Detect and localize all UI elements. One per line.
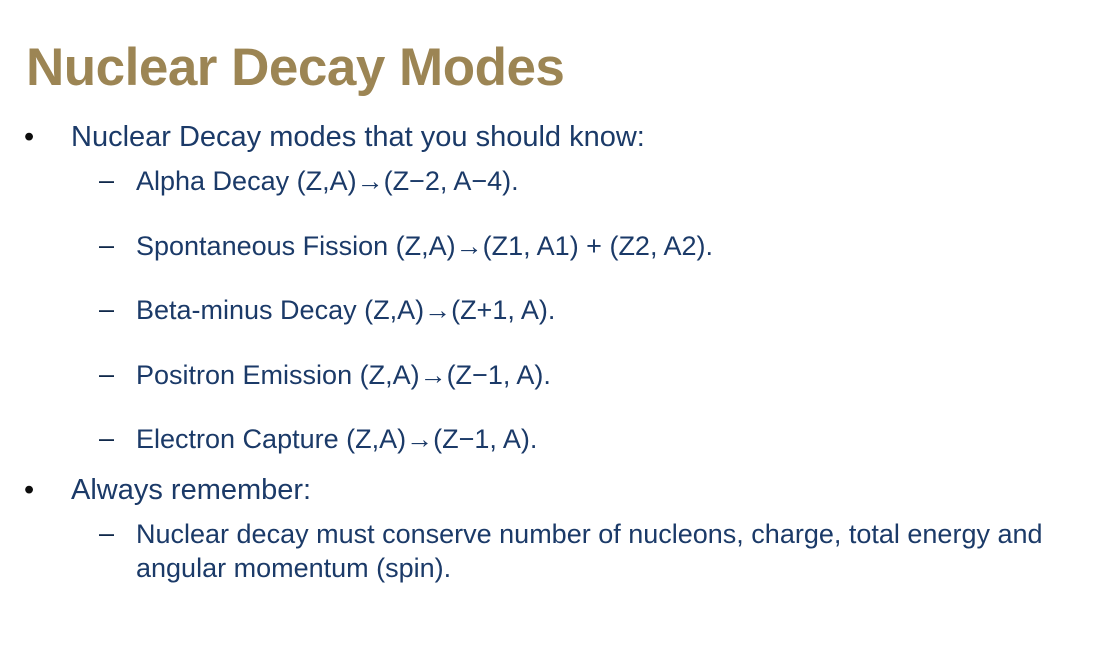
section-spacer bbox=[0, 461, 1118, 473]
list-item-label: Nuclear decay must conserve number of nu… bbox=[136, 519, 1043, 582]
list-item-label: Always remember: bbox=[71, 474, 311, 506]
dash-icon: – bbox=[99, 164, 114, 197]
bullet-icon: • bbox=[24, 120, 34, 155]
bullet-list-level-2: – Alpha Decay (Z,A)→(Z−2, A−4). – Sponta… bbox=[71, 165, 1118, 456]
list-item-label: Nuclear Decay modes that you should know… bbox=[71, 121, 645, 153]
list-item: – Beta-minus Decay (Z,A)→(Z+1, A). bbox=[71, 294, 1118, 327]
bullet-list-level-1: • Nuclear Decay modes that you should kn… bbox=[0, 120, 1118, 585]
list-item-label: Spontaneous Fission (Z,A)→(Z1, A1) + (Z2… bbox=[136, 231, 713, 261]
list-item: – Spontaneous Fission (Z,A)→(Z1, A1) + (… bbox=[71, 230, 1118, 263]
slide-canvas: Nuclear Decay Modes • Nuclear Decay mode… bbox=[0, 0, 1118, 663]
dash-icon: – bbox=[99, 422, 114, 455]
dash-icon: – bbox=[99, 293, 114, 326]
list-item: – Alpha Decay (Z,A)→(Z−2, A−4). bbox=[71, 165, 1118, 198]
bullet-icon: • bbox=[24, 473, 34, 508]
list-item: – Positron Emission (Z,A)→(Z−1, A). bbox=[71, 359, 1118, 392]
list-item: – Nuclear decay must conserve number of … bbox=[71, 518, 1118, 585]
list-item: • Nuclear Decay modes that you should kn… bbox=[0, 120, 1118, 457]
list-item: – Electron Capture (Z,A)→(Z−1, A). bbox=[71, 423, 1118, 456]
list-item-label: Electron Capture (Z,A)→(Z−1, A). bbox=[136, 424, 537, 454]
list-item-label: Positron Emission (Z,A)→(Z−1, A). bbox=[136, 360, 551, 390]
page-title: Nuclear Decay Modes bbox=[26, 38, 564, 97]
slide-body: • Nuclear Decay modes that you should kn… bbox=[0, 120, 1118, 589]
dash-icon: – bbox=[99, 358, 114, 391]
list-item-label: Alpha Decay (Z,A)→(Z−2, A−4). bbox=[136, 166, 519, 196]
dash-icon: – bbox=[99, 229, 114, 262]
dash-icon: – bbox=[99, 517, 114, 550]
list-item-label: Beta-minus Decay (Z,A)→(Z+1, A). bbox=[136, 295, 555, 325]
bullet-list-level-2: – Nuclear decay must conserve number of … bbox=[71, 518, 1118, 585]
list-item: • Always remember: – Nuclear decay must … bbox=[0, 473, 1118, 585]
